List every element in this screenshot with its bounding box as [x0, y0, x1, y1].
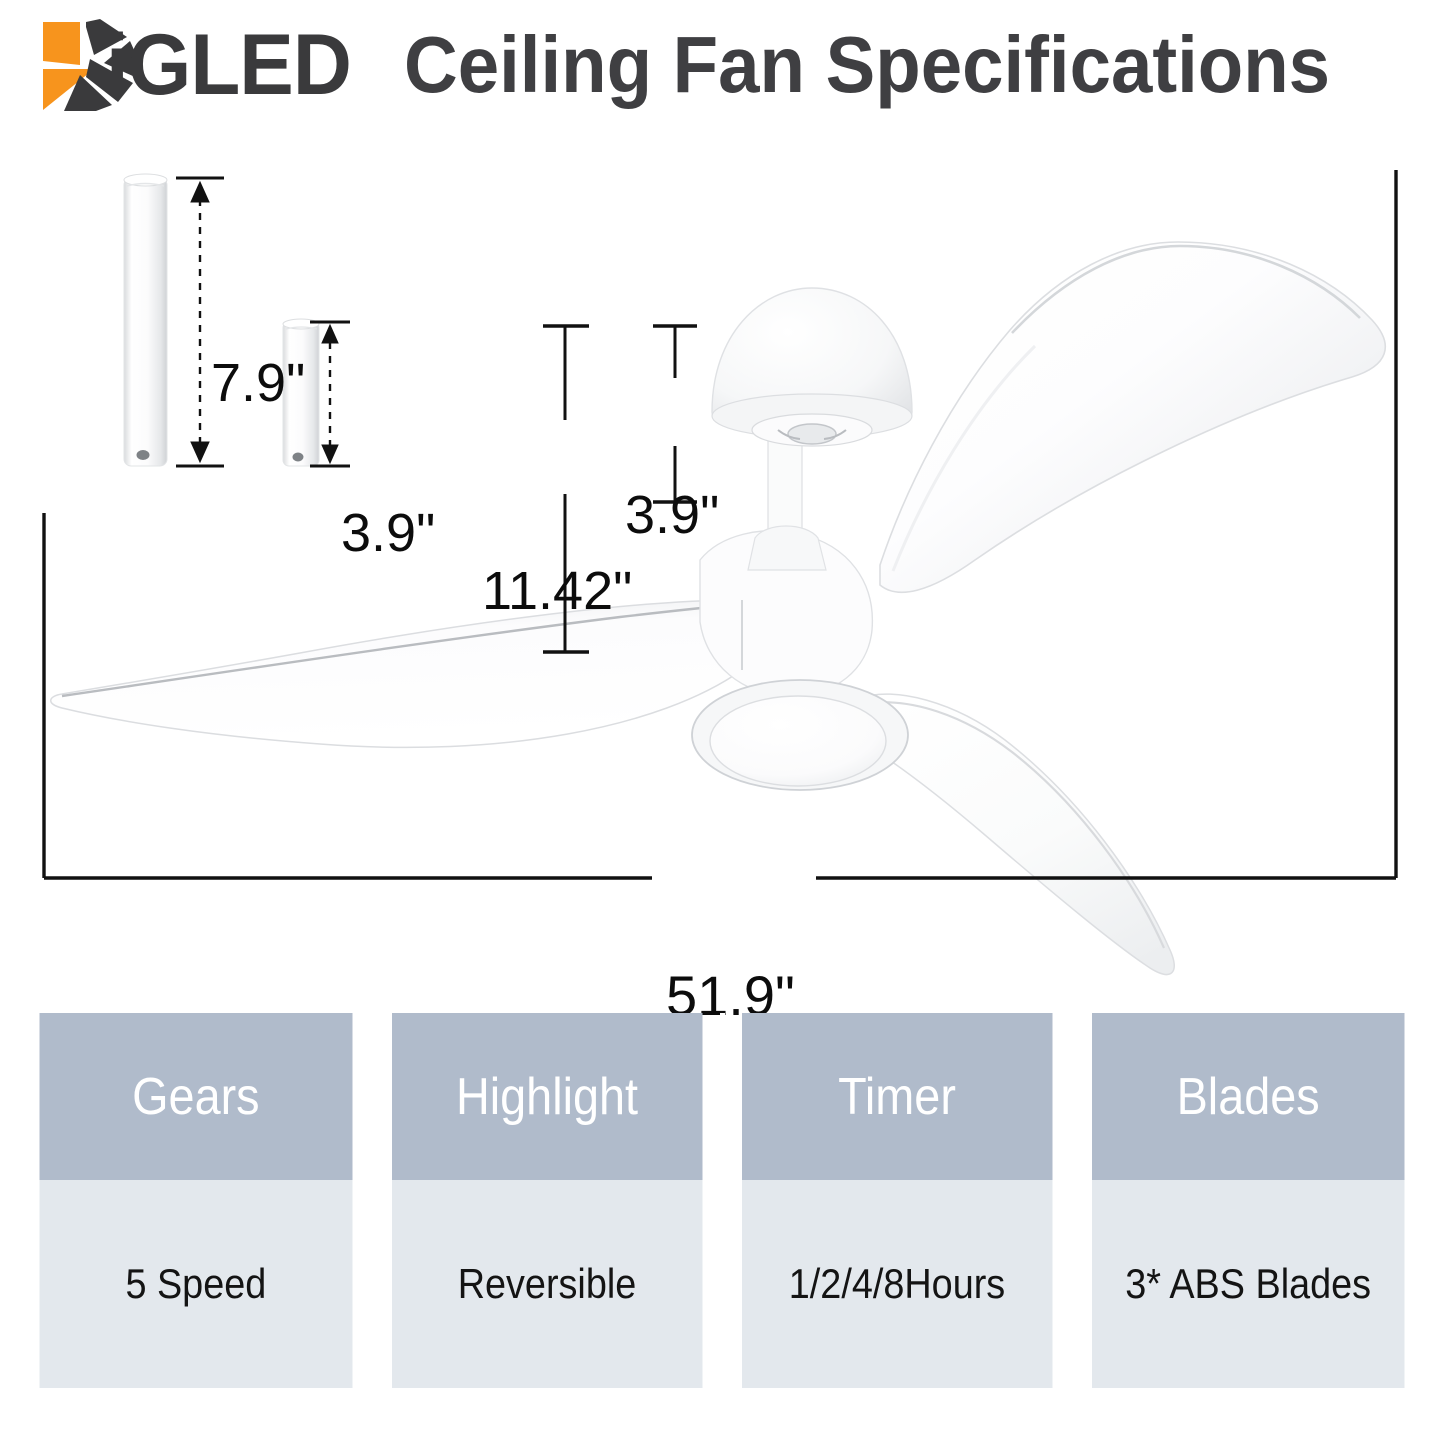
- fan-blade-left: [51, 600, 742, 747]
- dimension-label-downrod-long: 7.9": [211, 356, 305, 410]
- dimension-label-total-drop: 11.42": [482, 564, 632, 618]
- table-header-row: Gears Highlight Timer Blades: [22, 1013, 1422, 1180]
- table-cell-timer: 1/2/4/8Hours: [740, 1180, 1055, 1388]
- table-cell-highlight: Reversible: [390, 1180, 705, 1388]
- table-header-gears: Gears: [40, 1013, 355, 1180]
- page-header: iGLED Ceiling Fan Specifications: [0, 0, 1445, 130]
- table-header-timer: Timer: [740, 1013, 1055, 1180]
- table-header-highlight: Highlight: [390, 1013, 705, 1180]
- specification-table: Gears Highlight Timer Blades 5 Speed Rev…: [22, 1013, 1422, 1388]
- dimension-label-downrod-short: 3.9": [341, 506, 435, 560]
- product-dimension-diagram: 7.9" 3.9" 11.42" 3.9" 51.9": [0, 130, 1445, 990]
- brand-wordmark: iGLED: [106, 22, 351, 108]
- ceiling-fan-icon: [0, 130, 1445, 990]
- table-cell-blades: 3* ABS Blades: [1090, 1180, 1405, 1388]
- fan-light-cover: [710, 696, 886, 786]
- ceiling-canopy-icon: [712, 288, 912, 446]
- table-cell-gears: 5 Speed: [40, 1180, 355, 1388]
- specification-sheet: iGLED Ceiling Fan Specifications: [0, 0, 1445, 1445]
- dimension-label-canopy-drop: 3.9": [625, 488, 719, 542]
- fan-blade-top-right: [880, 242, 1385, 592]
- page-title: Ceiling Fan Specifications: [404, 25, 1330, 105]
- table-header-blades: Blades: [1090, 1013, 1405, 1180]
- table-row: 5 Speed Reversible 1/2/4/8Hours 3* ABS B…: [22, 1180, 1422, 1388]
- downrod-long-icon: [124, 174, 167, 466]
